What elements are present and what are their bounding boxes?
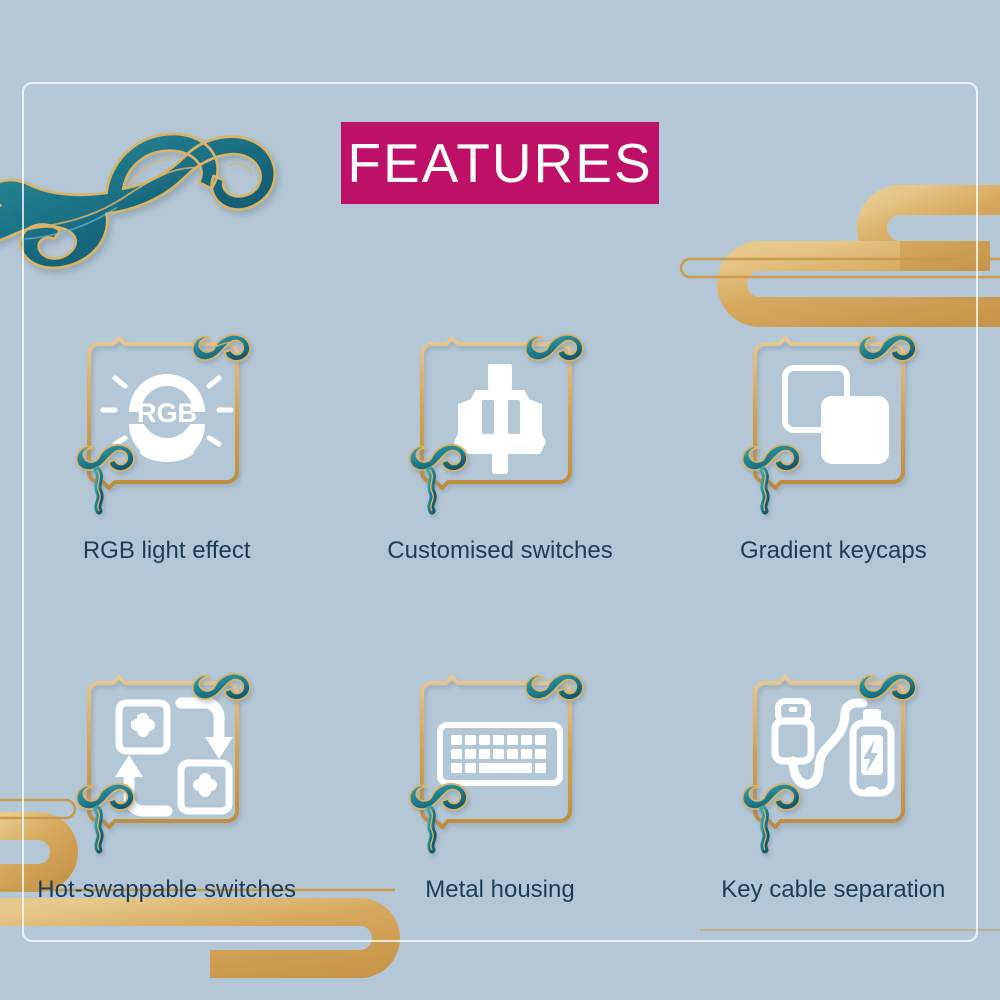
feature-item[interactable]: Key cable separation [667, 651, 1000, 904]
features-grid: RGB [0, 312, 1000, 904]
feature-caption: Key cable separation [721, 876, 945, 904]
rgb-icon-label: RGB [137, 398, 197, 428]
keyboard-icon [440, 725, 560, 783]
corner-cloud-ornament-top [526, 335, 583, 361]
corner-cloud-ornament-bottom [743, 445, 800, 511]
overlapping-keycaps-icon [785, 368, 889, 464]
poster-canvas: FEATURES RGB [0, 0, 1000, 1000]
corner-cloud-ornament-top [192, 335, 249, 361]
corner-cloud-ornament-top [192, 674, 249, 700]
feature-card-hot-swappable-switches [67, 651, 267, 856]
feature-caption: Hot-swappable switches [37, 876, 296, 904]
feature-caption: Metal housing [425, 876, 574, 904]
feature-card-rgb-light-effect: RGB [67, 312, 267, 517]
corner-cloud-ornament-bottom [76, 445, 133, 511]
features-banner: FEATURES [341, 122, 659, 204]
usb-cable-icon [775, 701, 891, 793]
feature-item[interactable]: Metal housing [333, 651, 666, 904]
feature-caption: Customised switches [387, 537, 612, 565]
corner-cloud-ornament-top [859, 674, 916, 700]
feature-item[interactable]: RGB [0, 312, 333, 565]
corner-cloud-ornament-top [526, 674, 583, 700]
feature-item[interactable]: Hot-swappable switches [0, 651, 333, 904]
corner-cloud-ornament-top [859, 335, 916, 361]
corner-cloud-ornament-bottom [743, 784, 800, 850]
feature-item[interactable]: Gradient keycaps [667, 312, 1000, 565]
page-title: FEATURES [347, 136, 652, 191]
corner-cloud-ornament-bottom [410, 445, 467, 511]
corner-cloud-ornament-bottom [410, 784, 467, 850]
feature-card-key-cable-separation [733, 651, 933, 856]
feature-card-customised-switches [400, 312, 600, 517]
feature-caption: Gradient keycaps [740, 537, 927, 565]
right-gold-ribbon [681, 200, 1000, 312]
feature-card-metal-housing [400, 651, 600, 856]
feature-item[interactable]: Customised switches [333, 312, 666, 565]
feature-card-gradient-keycaps [733, 312, 933, 517]
feature-caption: RGB light effect [83, 537, 251, 565]
